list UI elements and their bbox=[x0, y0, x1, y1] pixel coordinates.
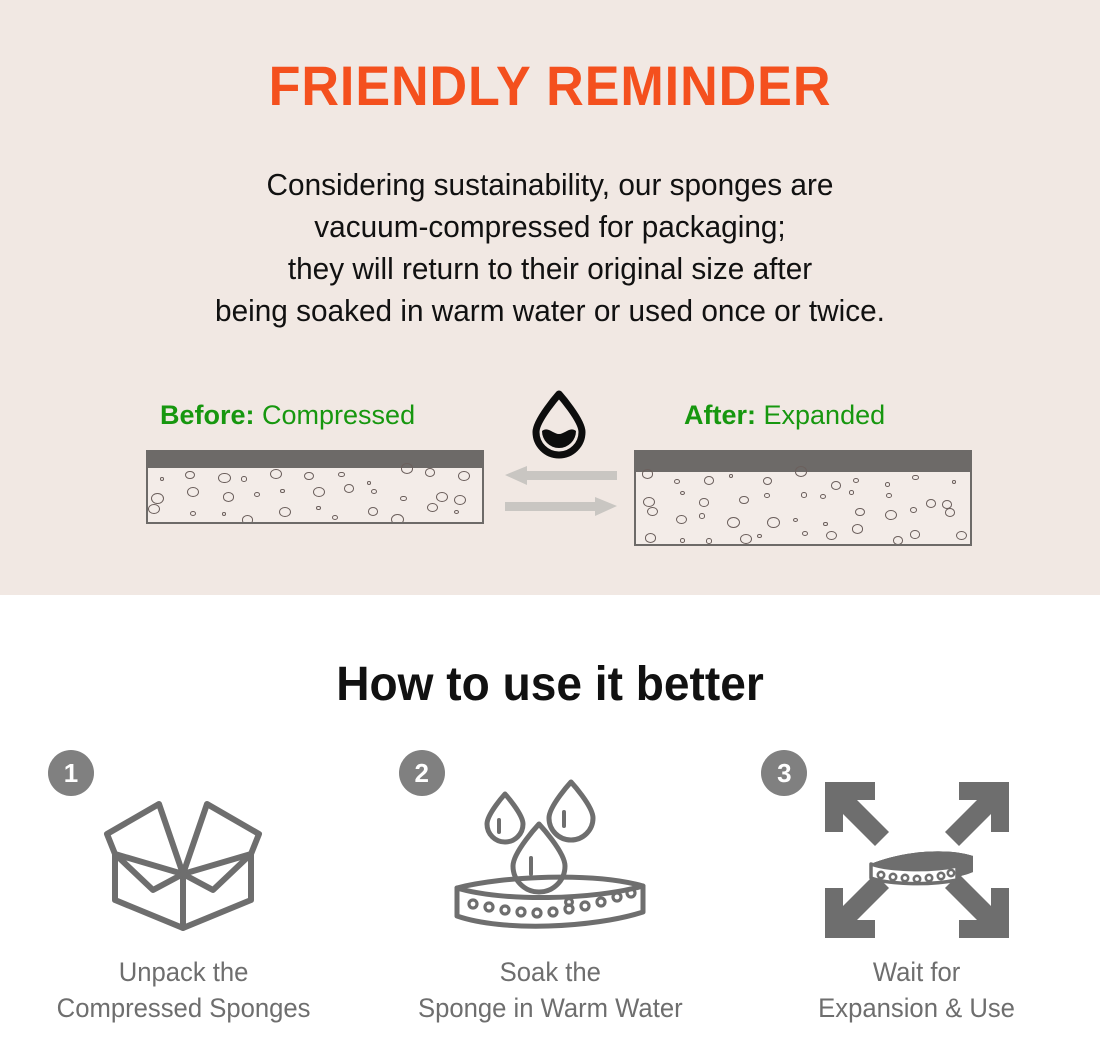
sponge-pore bbox=[160, 477, 164, 481]
sponge-pore bbox=[849, 490, 854, 494]
sponge-pore bbox=[254, 492, 261, 498]
sponge-pore bbox=[270, 469, 282, 479]
sponge-pore bbox=[676, 515, 687, 524]
sponge-pore bbox=[218, 473, 230, 484]
sponge-pore bbox=[368, 507, 378, 516]
sponge-pore bbox=[344, 484, 354, 493]
sponge-pore bbox=[952, 480, 956, 483]
sponge-pore bbox=[304, 472, 314, 480]
sponge-pore bbox=[642, 469, 653, 479]
sponge-pore bbox=[706, 538, 713, 544]
sponge-pore bbox=[945, 508, 955, 517]
sponge-pore bbox=[795, 466, 807, 476]
step-caption-2: Soak the Sponge in Warm Water bbox=[418, 954, 683, 1026]
sponge-pore bbox=[739, 496, 749, 504]
step-item-1: 1 bbox=[0, 750, 367, 1040]
steps-list: 1 bbox=[0, 750, 1100, 1040]
sponge-pore bbox=[831, 481, 842, 490]
sponge-pore bbox=[680, 538, 685, 543]
exchange-arrows-icon bbox=[505, 466, 617, 518]
body-line-3: they will return to their original size … bbox=[22, 248, 1078, 290]
sponge-pore bbox=[704, 476, 714, 485]
sponge-pore bbox=[910, 507, 917, 513]
caption-line-2: Sponge in Warm Water bbox=[418, 990, 683, 1026]
sponge-pore bbox=[699, 498, 709, 506]
sponge-pore bbox=[740, 534, 752, 544]
step-item-3: 3 bbox=[733, 750, 1100, 1040]
sponge-pore bbox=[643, 497, 655, 507]
sponge-pore bbox=[242, 515, 253, 524]
step-caption-3: Wait for Expansion & Use bbox=[818, 954, 1015, 1026]
sponge-pore bbox=[371, 489, 377, 494]
step-number-badge: 3 bbox=[761, 750, 807, 796]
caption-line-2: Expansion & Use bbox=[818, 990, 1015, 1026]
sponge-pore bbox=[190, 511, 197, 517]
sponge-pore bbox=[425, 468, 435, 477]
sponge-pore bbox=[763, 477, 772, 485]
after-label: After: Expanded bbox=[684, 400, 885, 431]
sponge-pore bbox=[885, 482, 890, 486]
sponge-pore bbox=[313, 487, 325, 497]
how-to-use-section: How to use it better 1 bbox=[0, 595, 1100, 1039]
infographic-page: FRIENDLY REMINDER Considering sustainabi… bbox=[0, 0, 1100, 1039]
sponge-pore bbox=[241, 476, 247, 481]
sponge-pore bbox=[647, 507, 658, 516]
sponge-pore bbox=[699, 513, 706, 519]
step-number-badge: 1 bbox=[48, 750, 94, 796]
caption-line-2: Compressed Sponges bbox=[56, 990, 310, 1026]
caption-line-1: Wait for bbox=[818, 954, 1015, 990]
sponge-pore bbox=[316, 506, 320, 510]
sponge-pore bbox=[910, 530, 920, 538]
step-caption-1: Unpack the Compressed Sponges bbox=[56, 954, 310, 1026]
sponge-pore bbox=[367, 481, 371, 485]
sponge-pore bbox=[956, 531, 967, 540]
sponge-pore bbox=[855, 508, 864, 516]
sponge-pore bbox=[338, 472, 345, 478]
before-label-value: Compressed bbox=[262, 400, 415, 430]
expanding-sponge-arrows-icon bbox=[817, 774, 1017, 946]
sponge-pore bbox=[757, 534, 761, 538]
sponge-pore bbox=[151, 493, 164, 504]
sponge-pore bbox=[454, 510, 459, 514]
sponge-pore bbox=[793, 518, 798, 522]
sponge-pore bbox=[280, 489, 284, 493]
sponge-pore bbox=[893, 536, 903, 545]
compressed-sponge-icon bbox=[146, 450, 484, 524]
sponge-pore bbox=[332, 515, 338, 520]
before-label-strong: Before: bbox=[160, 400, 255, 430]
open-box-icon bbox=[93, 774, 273, 946]
sponge-pore bbox=[187, 487, 199, 497]
sponge-pores bbox=[148, 452, 482, 522]
sponge-pore bbox=[458, 471, 470, 481]
sponge-pore bbox=[823, 522, 827, 526]
sponge-pore bbox=[223, 492, 235, 502]
sponge-pore bbox=[148, 504, 160, 514]
sponge-pore bbox=[764, 493, 770, 498]
before-label: Before: Compressed bbox=[160, 400, 415, 431]
sponge-pore bbox=[427, 503, 438, 512]
sponge-pores bbox=[636, 452, 970, 544]
sponge-pore bbox=[185, 471, 194, 479]
step-item-2: 2 bbox=[367, 750, 734, 1040]
sponge-pore bbox=[767, 517, 780, 528]
sponge-pore bbox=[926, 499, 936, 508]
sponge-pore bbox=[729, 474, 733, 478]
water-drop-icon bbox=[524, 390, 594, 460]
page-title: FRIENDLY REMINDER bbox=[39, 55, 1062, 117]
step-number-badge: 2 bbox=[399, 750, 445, 796]
sponge-pore bbox=[826, 531, 837, 540]
after-label-value: Expanded bbox=[764, 400, 886, 430]
sponge-with-water-drops-icon bbox=[443, 774, 658, 946]
sponge-pore bbox=[401, 463, 413, 474]
caption-line-1: Soak the bbox=[418, 954, 683, 990]
sponge-pore bbox=[391, 514, 404, 524]
sponge-pore bbox=[400, 496, 406, 501]
how-to-title: How to use it better bbox=[22, 657, 1078, 713]
caption-line-1: Unpack the bbox=[56, 954, 310, 990]
sponge-pore bbox=[436, 492, 448, 502]
sponge-pore bbox=[802, 531, 808, 536]
reminder-body-text: Considering sustainability, our sponges … bbox=[22, 164, 1078, 332]
sponge-pore bbox=[680, 491, 685, 495]
sponge-pore bbox=[727, 517, 740, 528]
sponge-pore bbox=[852, 524, 864, 534]
friendly-reminder-section: FRIENDLY REMINDER Considering sustainabi… bbox=[0, 0, 1100, 595]
body-line-1: Considering sustainability, our sponges … bbox=[22, 164, 1078, 206]
body-line-4: being soaked in warm water or used once … bbox=[22, 290, 1078, 332]
sponge-pore bbox=[912, 475, 919, 481]
after-label-strong: After: bbox=[684, 400, 756, 430]
body-line-2: vacuum-compressed for packaging; bbox=[22, 206, 1078, 248]
sponge-pore bbox=[886, 493, 892, 498]
sponge-pore bbox=[454, 495, 466, 505]
expanded-sponge-icon bbox=[634, 450, 972, 546]
sponge-pore bbox=[222, 512, 226, 516]
sponge-pore bbox=[279, 507, 291, 517]
sponge-pore bbox=[885, 510, 897, 520]
sponge-pore bbox=[801, 492, 808, 498]
sponge-pore bbox=[674, 479, 680, 484]
sponge-pore bbox=[853, 478, 859, 483]
sponge-pore bbox=[820, 494, 826, 499]
sponge-pore bbox=[645, 533, 656, 542]
